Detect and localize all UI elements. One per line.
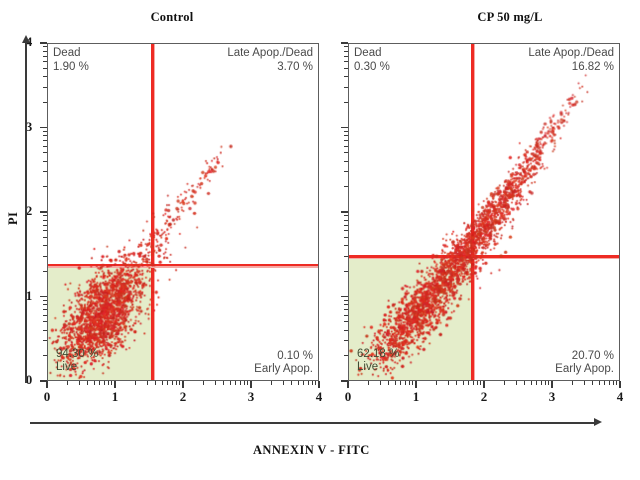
y-minor-tick — [344, 321, 348, 322]
x-minor-tick — [516, 381, 517, 385]
x-minor-tick — [477, 381, 478, 385]
x-minor-tick — [271, 381, 272, 385]
y-minor-tick — [344, 152, 348, 153]
x-minor-tick — [172, 381, 173, 385]
y-tick-label: 1 — [21, 288, 37, 304]
x-minor-tick — [409, 381, 410, 385]
y-major-tick — [40, 380, 47, 382]
x-minor-tick — [303, 381, 304, 385]
x-minor-tick — [230, 381, 231, 385]
x-minor-tick — [548, 381, 549, 385]
y-major-tick — [341, 296, 348, 298]
x-minor-tick — [504, 381, 505, 385]
x-minor-tick — [179, 381, 180, 385]
y-minor-tick — [344, 87, 348, 88]
x-minor-tick — [155, 381, 156, 385]
y-minor-tick — [344, 315, 348, 316]
y-tick-label: 2 — [21, 203, 37, 219]
y-minor-tick — [43, 330, 47, 331]
y-minor-tick — [43, 245, 47, 246]
x-minor-tick — [541, 381, 542, 385]
panel-title-control: Control — [112, 10, 232, 25]
y-axis-arrow-head — [22, 35, 30, 43]
y-minor-tick — [43, 51, 47, 52]
y-minor-tick — [43, 186, 47, 187]
y-minor-tick — [43, 304, 47, 305]
x-major-tick — [619, 381, 621, 388]
x-minor-tick — [473, 381, 474, 385]
y-minor-tick — [43, 315, 47, 316]
x-minor-tick — [87, 381, 88, 385]
y-minor-tick — [43, 87, 47, 88]
x-minor-tick — [104, 381, 105, 385]
y-tick-label: 0 — [21, 372, 37, 388]
y-minor-tick — [43, 61, 47, 62]
y-minor-tick — [43, 140, 47, 141]
y-minor-tick — [43, 171, 47, 172]
x-minor-tick — [215, 381, 216, 385]
y-major-tick — [40, 211, 47, 213]
x-minor-tick — [312, 381, 313, 385]
x-minor-tick — [463, 381, 464, 385]
y-minor-tick — [43, 321, 47, 322]
y-minor-tick — [43, 76, 47, 77]
y-axis-arrow-line — [25, 43, 27, 383]
dot-cloud-cp50 — [349, 44, 619, 380]
quadrant-name-live-control: Live — [56, 361, 77, 373]
x-minor-tick — [244, 381, 245, 385]
x-minor-tick — [405, 381, 406, 385]
x-minor-tick — [298, 381, 299, 385]
x-minor-tick — [395, 381, 396, 385]
y-minor-tick — [43, 237, 47, 238]
y-minor-tick — [344, 102, 348, 103]
y-minor-tick — [43, 161, 47, 162]
y-minor-tick — [43, 102, 47, 103]
x-minor-tick — [291, 381, 292, 385]
x-minor-tick — [480, 381, 481, 385]
y-minor-tick — [43, 271, 47, 272]
x-minor-tick — [536, 381, 537, 385]
x-tick-label: 2 — [476, 389, 492, 405]
x-major-tick — [182, 381, 184, 388]
x-minor-tick — [223, 381, 224, 385]
x-axis-title: ANNEXIN V - FITC — [253, 443, 370, 458]
y-tick-label: 3 — [21, 119, 37, 135]
x-minor-tick — [456, 381, 457, 385]
y-major-tick — [341, 211, 348, 213]
x-minor-tick — [468, 381, 469, 385]
y-minor-tick — [344, 146, 348, 147]
x-minor-tick — [572, 381, 573, 385]
x-minor-tick — [584, 381, 585, 385]
x-minor-tick — [604, 381, 605, 385]
x-minor-tick — [448, 381, 449, 385]
x-minor-tick — [147, 381, 148, 385]
x-minor-tick — [436, 381, 437, 385]
x-minor-tick — [247, 381, 248, 385]
y-minor-tick — [344, 237, 348, 238]
x-minor-tick — [176, 381, 177, 385]
y-minor-tick — [43, 220, 47, 221]
y-minor-tick — [43, 56, 47, 57]
y-minor-tick — [344, 215, 348, 216]
x-minor-tick — [599, 381, 600, 385]
x-minor-tick — [315, 381, 316, 385]
x-minor-tick — [616, 381, 617, 385]
x-minor-tick — [235, 381, 236, 385]
x-major-tick — [347, 381, 349, 388]
y-minor-tick — [43, 355, 47, 356]
x-tick-label: 1 — [107, 389, 123, 405]
x-minor-tick — [111, 381, 112, 385]
y-minor-tick — [344, 309, 348, 310]
x-minor-tick — [531, 381, 532, 385]
x-minor-tick — [388, 381, 389, 385]
y-major-tick — [341, 127, 348, 129]
y-minor-tick — [344, 135, 348, 136]
y-minor-tick — [344, 340, 348, 341]
y-minor-tick — [344, 171, 348, 172]
y-minor-tick — [344, 51, 348, 52]
y-minor-tick — [43, 131, 47, 132]
x-minor-tick — [203, 381, 204, 385]
y-minor-tick — [43, 300, 47, 301]
x-minor-tick — [79, 381, 80, 385]
y-major-tick — [40, 42, 47, 44]
y-minor-tick — [344, 220, 348, 221]
x-minor-tick — [308, 381, 309, 385]
y-minor-tick — [43, 230, 47, 231]
x-major-tick — [551, 381, 553, 388]
x-minor-tick — [368, 381, 369, 385]
y-minor-tick — [344, 140, 348, 141]
dot-cloud-control — [48, 44, 318, 380]
x-minor-tick — [94, 381, 95, 385]
x-minor-tick — [412, 381, 413, 385]
y-minor-tick — [344, 131, 348, 132]
y-minor-tick — [344, 230, 348, 231]
x-minor-tick — [380, 381, 381, 385]
x-minor-tick — [167, 381, 168, 385]
y-minor-tick — [344, 76, 348, 77]
x-minor-tick — [67, 381, 68, 385]
y-minor-tick — [43, 225, 47, 226]
y-minor-tick — [344, 355, 348, 356]
x-minor-tick — [99, 381, 100, 385]
x-axis-arrow-line — [30, 422, 595, 424]
x-minor-tick — [162, 381, 163, 385]
y-minor-tick — [344, 225, 348, 226]
x-tick-label: 0 — [340, 389, 356, 405]
y-axis-title: PI — [6, 212, 21, 225]
y-minor-tick — [344, 304, 348, 305]
x-tick-label: 4 — [311, 389, 327, 405]
quadrant-label-live-cp50: 62.18 % Live — [357, 348, 399, 375]
y-minor-tick — [43, 340, 47, 341]
x-minor-tick — [108, 381, 109, 385]
x-tick-label: 4 — [612, 389, 628, 405]
y-minor-tick — [43, 309, 47, 310]
x-tick-label: 1 — [408, 389, 424, 405]
y-minor-tick — [344, 61, 348, 62]
x-tick-label: 3 — [243, 389, 259, 405]
y-major-tick — [40, 127, 47, 129]
x-major-tick — [250, 381, 252, 388]
x-major-tick — [483, 381, 485, 388]
y-minor-tick — [344, 186, 348, 187]
quadrant-pct-live-control: 94.30 % — [56, 348, 98, 360]
y-minor-tick — [43, 256, 47, 257]
x-major-tick — [114, 381, 116, 388]
y-minor-tick — [344, 68, 348, 69]
figure-root: Control Dead 1.90 % Late Apop./Dead 3.70… — [0, 0, 640, 480]
x-minor-tick — [135, 381, 136, 385]
y-major-tick — [341, 42, 348, 44]
x-tick-label: 2 — [175, 389, 191, 405]
y-minor-tick — [344, 56, 348, 57]
x-major-tick — [318, 381, 320, 388]
x-tick-label: 0 — [39, 389, 55, 405]
y-minor-tick — [344, 161, 348, 162]
y-minor-tick — [344, 245, 348, 246]
quadrant-label-live-control: 94.30 % Live — [56, 348, 98, 375]
y-minor-tick — [344, 256, 348, 257]
y-major-tick — [40, 296, 47, 298]
x-minor-tick — [545, 381, 546, 385]
panel-title-cp50: CP 50 mg/L — [450, 10, 570, 25]
x-axis-arrow-head — [594, 418, 602, 426]
x-minor-tick — [609, 381, 610, 385]
x-minor-tick — [592, 381, 593, 385]
y-minor-tick — [344, 46, 348, 47]
x-minor-tick — [400, 381, 401, 385]
y-minor-tick — [43, 135, 47, 136]
y-minor-tick — [344, 271, 348, 272]
y-minor-tick — [43, 215, 47, 216]
y-minor-tick — [344, 300, 348, 301]
scatter-plot-control[interactable]: Dead 1.90 % Late Apop./Dead 3.70 % 0.10 … — [47, 43, 319, 381]
y-minor-tick — [344, 330, 348, 331]
y-minor-tick — [43, 46, 47, 47]
quadrant-name-live-cp50: Live — [357, 361, 378, 373]
quadrant-pct-live-cp50: 62.18 % — [357, 348, 399, 360]
x-tick-label: 3 — [544, 389, 560, 405]
y-minor-tick — [43, 68, 47, 69]
y-major-tick — [341, 380, 348, 382]
scatter-plot-cp50[interactable]: Dead 0.30 % Late Apop./Dead 16.82 % 20.7… — [348, 43, 620, 381]
x-major-tick — [415, 381, 417, 388]
y-minor-tick — [43, 146, 47, 147]
x-minor-tick — [524, 381, 525, 385]
x-minor-tick — [240, 381, 241, 385]
x-minor-tick — [283, 381, 284, 385]
x-minor-tick — [613, 381, 614, 385]
y-minor-tick — [43, 152, 47, 153]
x-major-tick — [46, 381, 48, 388]
